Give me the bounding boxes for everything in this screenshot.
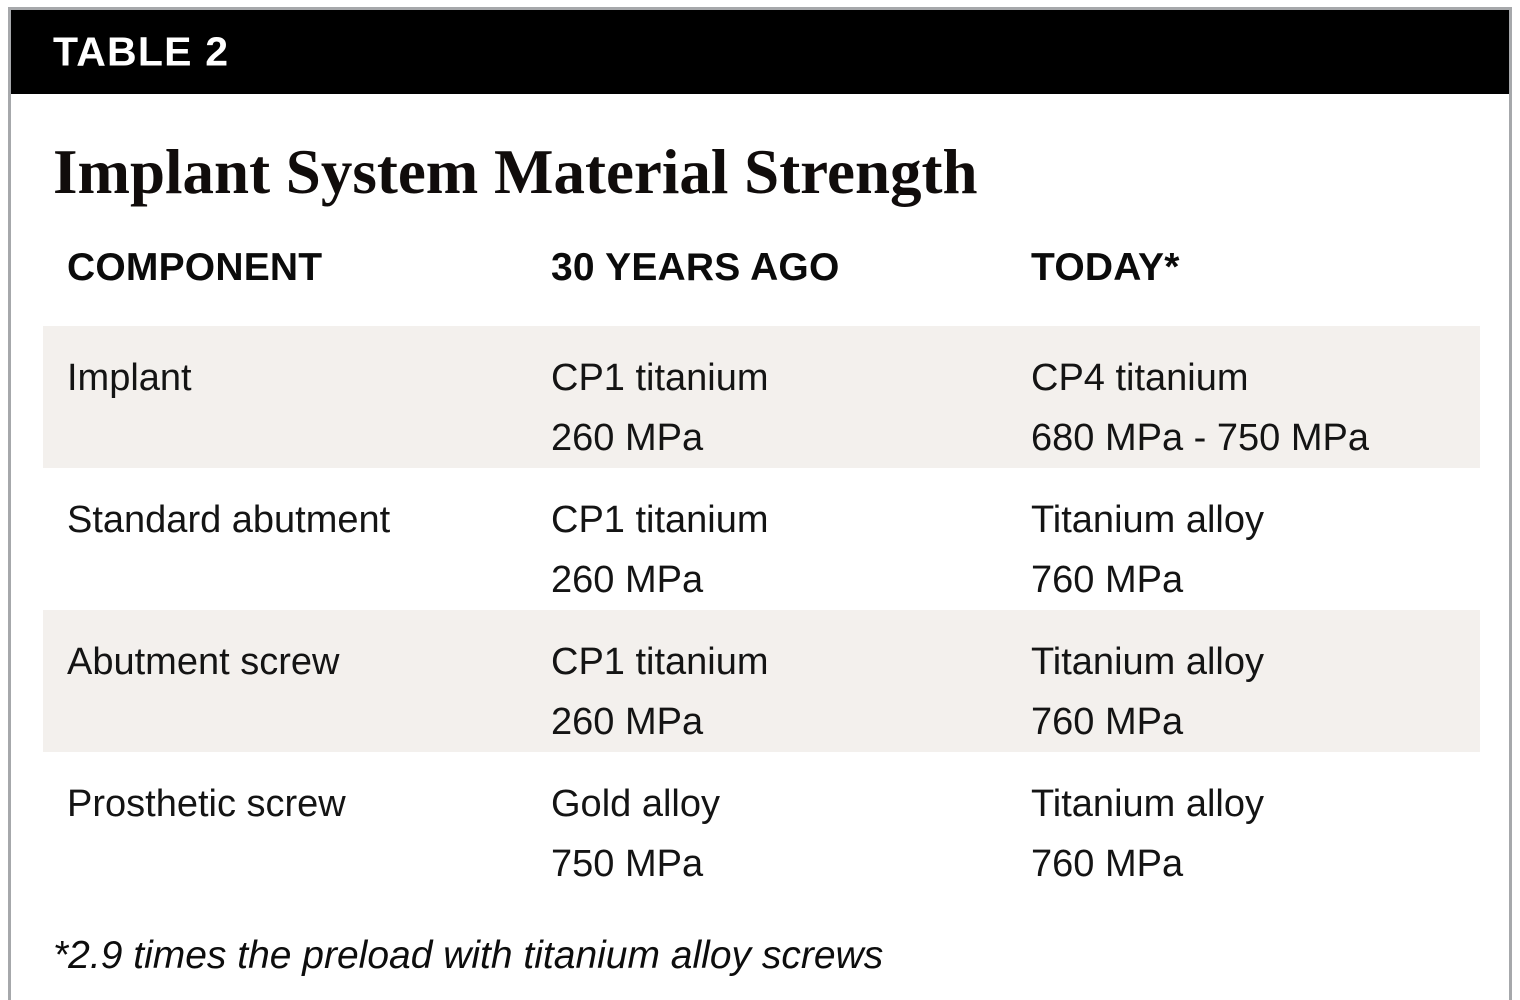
- cell-component: Standard abutment: [67, 490, 390, 550]
- strength-today: 760 MPa: [1031, 692, 1264, 752]
- component-name: Abutment screw: [67, 632, 339, 692]
- component-name: Implant: [67, 348, 192, 408]
- strength-today: 680 MPa - 750 MPa: [1031, 408, 1369, 468]
- table-card: TABLE 2 Implant System Material Strength…: [8, 7, 1512, 1000]
- table-number-label: TABLE 2: [53, 32, 229, 73]
- cell-today: Titanium alloy 760 MPa: [1031, 774, 1264, 894]
- material-today: CP4 titanium: [1031, 348, 1369, 408]
- table-footnote: *2.9 times the preload with titanium all…: [53, 935, 883, 978]
- cell-30-years-ago: CP1 titanium 260 MPa: [551, 348, 769, 468]
- cell-today: Titanium alloy 760 MPa: [1031, 632, 1264, 752]
- cell-component: Implant: [67, 348, 192, 408]
- cell-component: Prosthetic screw: [67, 774, 346, 834]
- component-name: Prosthetic screw: [67, 774, 346, 834]
- table-body: Implant System Material Strength COMPONE…: [11, 94, 1509, 1000]
- strength-today: 760 MPa: [1031, 550, 1264, 610]
- table-banner: TABLE 2: [11, 10, 1509, 94]
- material-past: Gold alloy: [551, 774, 720, 834]
- material-today: Titanium alloy: [1031, 490, 1264, 550]
- cell-30-years-ago: CP1 titanium 260 MPa: [551, 490, 769, 610]
- cell-today: Titanium alloy 760 MPa: [1031, 490, 1264, 610]
- strength-past: 260 MPa: [551, 692, 769, 752]
- table-header-row: COMPONENT 30 YEARS AGO TODAY*: [43, 246, 1480, 308]
- cell-30-years-ago: Gold alloy 750 MPa: [551, 774, 720, 894]
- material-past: CP1 titanium: [551, 490, 769, 550]
- material-past: CP1 titanium: [551, 632, 769, 692]
- table-figure: TABLE 2 Implant System Material Strength…: [0, 0, 1520, 1000]
- table-row: Implant CP1 titanium 260 MPa CP4 titaniu…: [43, 326, 1480, 468]
- material-today: Titanium alloy: [1031, 774, 1264, 834]
- strength-past: 260 MPa: [551, 550, 769, 610]
- table-row: Abutment screw CP1 titanium 260 MPa Tita…: [43, 610, 1480, 752]
- strength-today: 760 MPa: [1031, 834, 1264, 894]
- material-past: CP1 titanium: [551, 348, 769, 408]
- column-header-30-years-ago: 30 YEARS AGO: [551, 246, 840, 291]
- strength-past: 750 MPa: [551, 834, 720, 894]
- table-title: Implant System Material Strength: [53, 141, 978, 204]
- table-row: Prosthetic screw Gold alloy 750 MPa Tita…: [43, 752, 1480, 894]
- component-name: Standard abutment: [67, 490, 390, 550]
- cell-30-years-ago: CP1 titanium 260 MPa: [551, 632, 769, 752]
- column-header-today: TODAY*: [1031, 246, 1180, 291]
- material-today: Titanium alloy: [1031, 632, 1264, 692]
- table-rows: Implant CP1 titanium 260 MPa CP4 titaniu…: [43, 326, 1480, 894]
- strength-past: 260 MPa: [551, 408, 769, 468]
- cell-component: Abutment screw: [67, 632, 339, 692]
- cell-today: CP4 titanium 680 MPa - 750 MPa: [1031, 348, 1369, 468]
- column-header-component: COMPONENT: [67, 246, 322, 291]
- table-row: Standard abutment CP1 titanium 260 MPa T…: [43, 468, 1480, 610]
